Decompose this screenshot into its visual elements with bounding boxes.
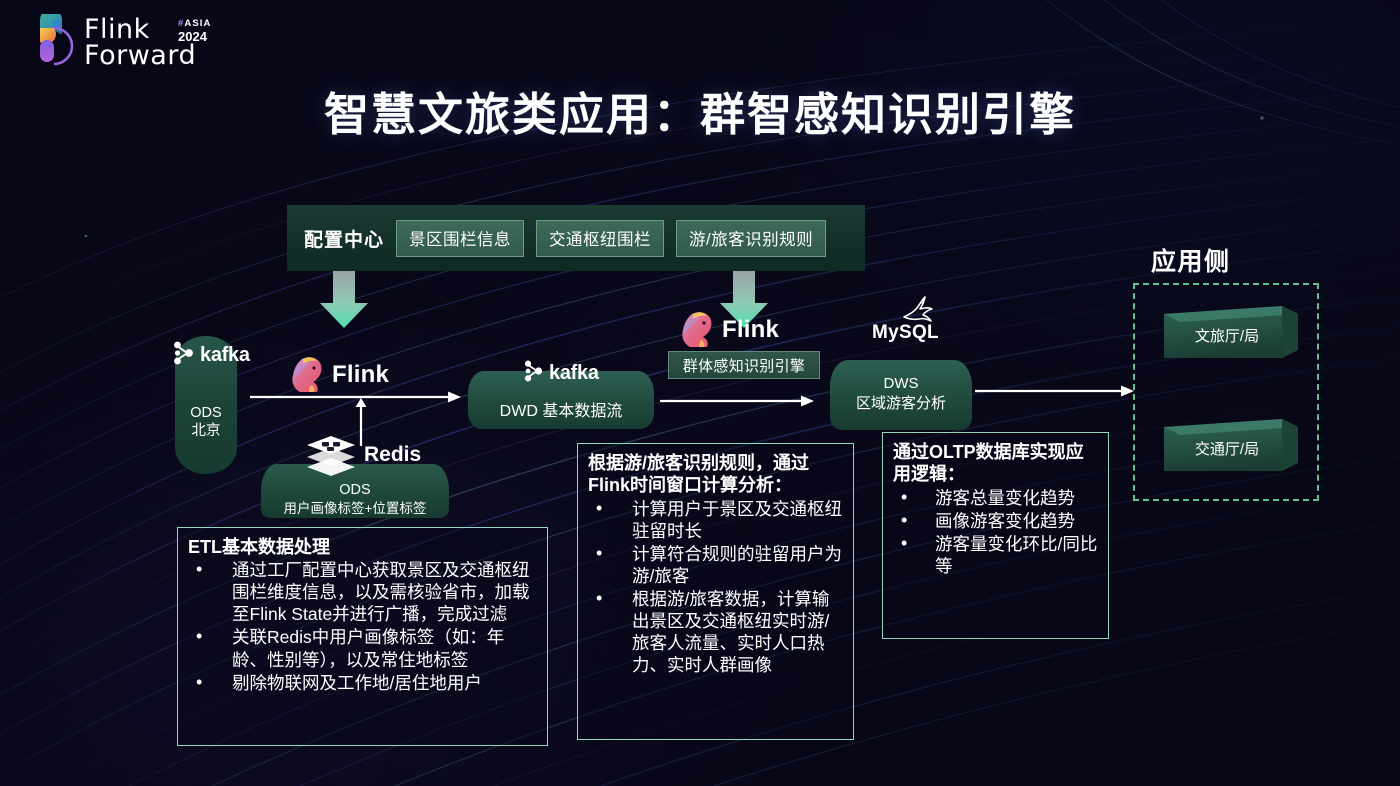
redis-wordmark: Redis (364, 443, 421, 467)
dws-line1: DWS (830, 374, 972, 394)
flink-label-2: Flink (678, 310, 779, 350)
note-oltp-heading: 通过OLTP数据库实现应用逻辑： (893, 441, 1098, 486)
ods-redis-line1: ODS (261, 481, 449, 500)
dws-line2: 区域游客分析 (830, 394, 972, 414)
note-etl-item-1: 通过工厂配置中心获取景区及交通枢纽围栏维度信息，以及需核验省市，加载至Flink… (188, 559, 537, 625)
redis-logo-icon (305, 434, 357, 476)
flink-squirrel-icon (678, 310, 716, 350)
logo-line-forward: Forward (84, 43, 196, 69)
kafka-logo-icon (523, 359, 545, 388)
note-flink-window-list: 计算用户于景区及交通枢纽驻留时长 计算符合规则的驻留用户为游/旅客 根据游/旅客… (588, 498, 843, 676)
note-flink-window: 根据游/旅客识别规则，通过Flink时间窗口计算分析： 计算用户于景区及交通枢纽… (577, 443, 854, 740)
ods-redis-line2: 用户画像标签+位置标签 (261, 500, 449, 518)
app-box-transport-label: 交通厅/局 (1157, 438, 1297, 459)
note-etl-heading: ETL基本数据处理 (188, 536, 537, 558)
slide-root: Flink Forward #ASIA 2024 智慧文旅类应用：群智感知识别引… (0, 0, 1400, 786)
flink-wordmark-2: Flink (722, 316, 779, 344)
flink-forward-logo-icon (30, 14, 74, 72)
kafka-logo-icon (172, 340, 196, 371)
note-etl-list: 通过工厂配置中心获取景区及交通枢纽围栏维度信息，以及需核验省市，加载至Flink… (188, 559, 537, 693)
flink-squirrel-icon (288, 355, 326, 395)
kafka-wordmark-dwd: kafka (549, 362, 599, 385)
page-title: 智慧文旅类应用：群智感知识别引擎 (0, 78, 1400, 143)
note-flink-window-item-2: 计算符合规则的驻留用户为游/旅客 (588, 543, 843, 587)
note-oltp-item-1: 游客总量变化趋势 (893, 487, 1098, 509)
note-flink-window-heading: 根据游/旅客识别规则，通过Flink时间窗口计算分析： (588, 452, 843, 497)
note-etl-item-3: 剔除物联网及工作地/居住地用户 (188, 672, 537, 694)
config-tag-scenic-fence[interactable]: 景区围栏信息 (396, 220, 524, 257)
logo-year-label: 2024 (178, 31, 207, 44)
mysql-wordmark: MySQL (872, 322, 939, 343)
logo-region-label: ASIA (184, 18, 211, 29)
ods-beijing-line1: ODS (175, 404, 237, 422)
brand-logo-text: Flink Forward #ASIA 2024 (84, 17, 196, 70)
ods-redis-label: ODS 用户画像标签+位置标签 (261, 481, 449, 517)
arrow-down-to-flink-1-icon (318, 271, 370, 329)
kafka-label-ods: kafka (172, 340, 250, 371)
config-center-title: 配置中心 (304, 225, 384, 252)
note-oltp-item-3: 游客量变化环比/同比等 (893, 533, 1098, 577)
app-side-title: 应用侧 (1151, 242, 1231, 278)
arrow-dws-to-appside-icon (975, 384, 1135, 398)
note-oltp: 通过OLTP数据库实现应用逻辑： 游客总量变化趋势 画像游客变化趋势 游客量变化… (882, 432, 1109, 639)
config-center-panel: 配置中心 景区围栏信息 交通枢纽围栏 游/旅客识别规则 (287, 205, 865, 271)
dws-label: DWS 区域游客分析 (830, 374, 972, 414)
ods-beijing-label: ODS 北京 (175, 404, 237, 440)
redis-label: Redis (305, 434, 421, 476)
logo-region-tag: #ASIA (178, 19, 212, 28)
mysql-dolphin-icon (900, 295, 936, 325)
config-tag-visitor-rules[interactable]: 游/旅客识别规则 (676, 220, 826, 257)
flink-wordmark-1: Flink (332, 361, 389, 389)
note-flink-window-item-3: 根据游/旅客数据，计算输出景区及交通枢纽实时游/旅客人流量、实时人口热力、实时人… (588, 588, 843, 676)
config-tag-transport-hub-fence[interactable]: 交通枢纽围栏 (536, 220, 664, 257)
arrow-dwd-to-dws-icon (660, 394, 815, 408)
note-oltp-item-2: 画像游客变化趋势 (893, 510, 1098, 532)
app-box-culture-tourism-label: 文旅厅/局 (1157, 325, 1297, 346)
note-flink-window-item-1: 计算用户于景区及交通枢纽驻留时长 (588, 498, 843, 542)
note-oltp-list: 游客总量变化趋势 画像游客变化趋势 游客量变化环比/同比等 (893, 487, 1098, 577)
note-etl: ETL基本数据处理 通过工厂配置中心获取景区及交通枢纽围栏维度信息，以及需核验省… (177, 527, 548, 746)
ods-beijing-line2: 北京 (175, 422, 237, 440)
flink-label-1: Flink (288, 355, 389, 395)
brand-logo: Flink Forward #ASIA 2024 (30, 14, 196, 72)
note-etl-item-2: 关联Redis中用户画像标签（如：年龄、性别等），以及常住地标签 (188, 626, 537, 670)
engine-tag-crowd-sensing: 群体感知识别引擎 (668, 351, 820, 379)
kafka-label-dwd: kafka (523, 359, 599, 388)
mysql-label: MySQL (872, 322, 939, 344)
kafka-wordmark-ods: kafka (200, 344, 250, 367)
dwd-label: DWD 基本数据流 (468, 397, 654, 421)
